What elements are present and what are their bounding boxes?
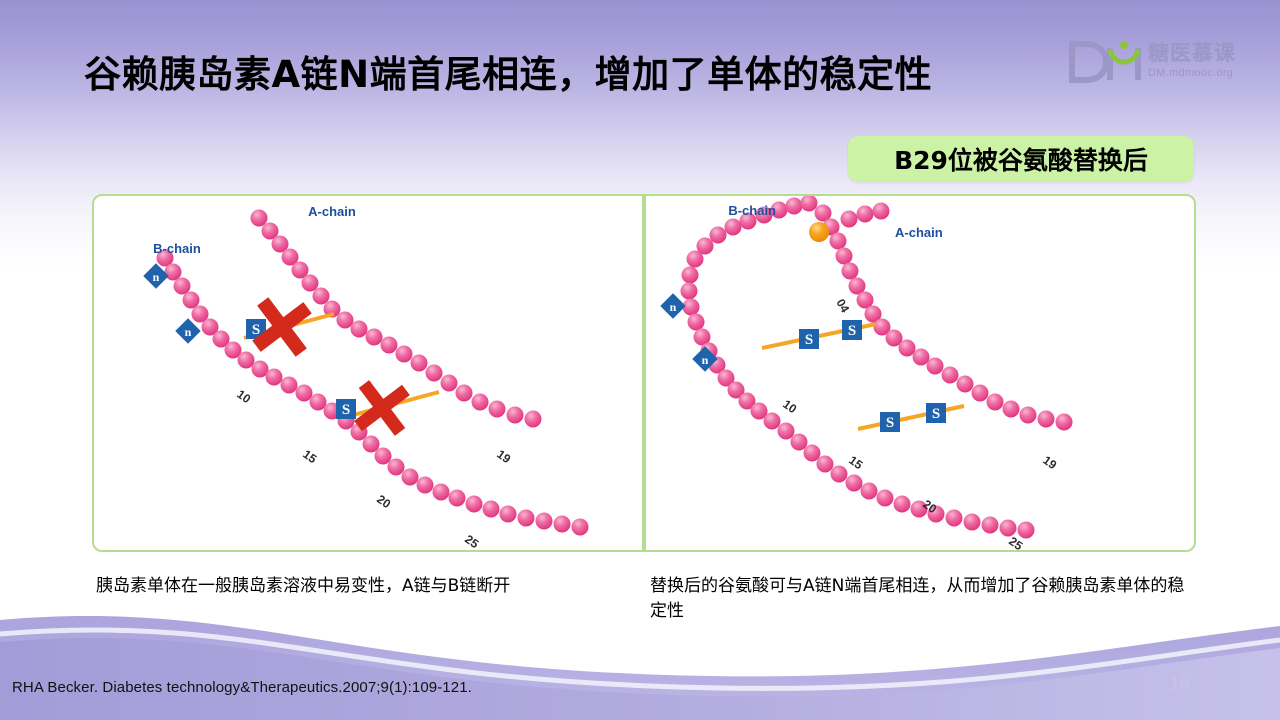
residue-number-15: 15	[846, 453, 865, 472]
slide-canvas: 谷赖胰岛素A链N端首尾相连，增加了单体的稳定性 糖医慕课 DM.mdmooc.o…	[0, 0, 1280, 720]
logo-url: DM.mdmooc.org	[1148, 66, 1236, 80]
b-chain-label: B-chain	[728, 203, 776, 218]
logo-name-cn: 糖医慕课	[1148, 42, 1236, 64]
a-chain-beads	[836, 248, 1073, 431]
svg-text:S: S	[932, 406, 940, 422]
a-chain-label: A-chain	[308, 204, 356, 219]
sulfur-marker: S	[336, 399, 356, 419]
residue-number-20: 20	[374, 492, 393, 511]
svg-text:n: n	[153, 270, 160, 284]
brand-logo: 糖医慕课 DM.mdmooc.org	[1066, 36, 1266, 92]
caption-right: 替换后的谷氨酸可与A链N端首尾相连，从而增加了谷赖胰岛素单体的稳定性	[650, 574, 1200, 624]
svg-text:S: S	[252, 322, 260, 338]
residue-number-15: 15	[300, 447, 319, 466]
svg-text:S: S	[848, 323, 856, 339]
diagram-panel-right: S S S S n n B-ch	[644, 194, 1196, 552]
residue-number-10: 10	[234, 387, 253, 406]
blue-diamond-marker-icon: n	[660, 293, 685, 318]
residue-number-19: 19	[494, 447, 513, 466]
citation-text: RHA Becker. Diabetes technology&Therapeu…	[12, 679, 472, 696]
svg-text:n: n	[702, 353, 709, 367]
status-badge: B29位被谷氨酸替换后	[848, 136, 1194, 182]
residue-number-25: 25	[462, 532, 481, 550]
blue-diamond-marker-icon: n	[175, 318, 200, 343]
svg-text:S: S	[805, 332, 813, 348]
sulfur-marker: S	[880, 412, 900, 432]
residue-number-04: 04	[833, 297, 852, 316]
broken-bond-x-icon	[353, 379, 411, 437]
sulfur-marker: S	[842, 320, 862, 340]
sulfur-marker: S	[799, 329, 819, 349]
a-chain-beads-upper	[841, 203, 890, 228]
b-chain-loop-beads	[681, 202, 788, 420]
sulfur-marker: S	[926, 403, 946, 423]
residue-number-19: 19	[1040, 453, 1059, 472]
residue-number-10: 10	[780, 397, 799, 416]
blue-diamond-marker-icon: n	[143, 263, 168, 288]
caption-left: 胰岛素单体在一般胰岛素溶液中易变性，A链与B链断开	[96, 574, 641, 599]
glulisine-monomer-stable-diagram: S S S S n n B-ch	[646, 196, 1194, 550]
svg-text:n: n	[185, 325, 192, 339]
diagram-panel-left: S S n n	[92, 194, 644, 552]
svg-text:n: n	[670, 300, 677, 314]
b-chain-label: B-chain	[153, 241, 201, 256]
b29-glutamic-acid-bead	[809, 222, 829, 242]
svg-text:S: S	[342, 402, 350, 418]
dm-logo-icon	[1066, 36, 1146, 86]
a-chain-label: A-chain	[895, 225, 943, 240]
slide-title: 谷赖胰岛素A链N端首尾相连，增加了单体的稳定性	[84, 44, 932, 98]
insulin-monomer-unstable-diagram: S S n n	[94, 196, 642, 550]
page-number: 16	[1170, 674, 1189, 694]
svg-text:S: S	[886, 415, 894, 431]
